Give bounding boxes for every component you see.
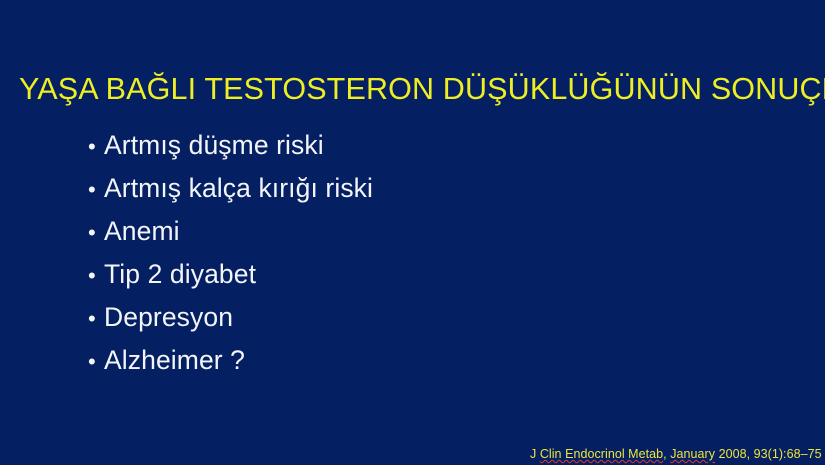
list-item: • Artmış düşme riski — [88, 124, 648, 167]
bullet-dot-icon: • — [88, 211, 104, 254]
list-item: • Tip 2 diyabet — [88, 253, 648, 296]
bullet-dot-icon: • — [88, 297, 104, 340]
citation-journal-prefix: J — [530, 447, 540, 461]
list-item: • Anemi — [88, 210, 648, 253]
slide-title: YAŞA BAĞLI TESTOSTERON DÜŞÜKLÜĞÜNÜN SONU… — [19, 67, 814, 111]
bullet-label: Tip 2 diyabet — [104, 253, 256, 296]
citation-month: January — [670, 447, 715, 461]
bullet-dot-icon: • — [88, 125, 104, 168]
citation-journal-name: Clin Endocrinol Metab — [540, 447, 663, 461]
bullet-label: Artmış düşme riski — [104, 124, 324, 167]
citation-volume-pages: 2008, 93(1):68–75 — [715, 447, 822, 461]
list-item: • Alzheimer ? — [88, 339, 648, 382]
bullet-dot-icon: • — [88, 168, 104, 211]
bullet-label: Alzheimer ? — [104, 339, 245, 382]
list-item: • Artmış kalça kırığı riski — [88, 167, 648, 210]
slide-canvas: YAŞA BAĞLI TESTOSTERON DÜŞÜKLÜĞÜNÜN SONU… — [0, 0, 825, 465]
bullet-dot-icon: • — [88, 254, 104, 297]
source-citation: J Clin Endocrinol Metab, January 2008, 9… — [530, 446, 822, 462]
bullet-label: Artmış kalça kırığı riski — [104, 167, 373, 210]
bullet-label: Anemi — [104, 210, 180, 253]
bullet-dot-icon: • — [88, 340, 104, 383]
bullet-label: Depresyon — [104, 296, 233, 339]
list-item: • Depresyon — [88, 296, 648, 339]
bullet-list: • Artmış düşme riski • Artmış kalça kırı… — [88, 124, 648, 382]
